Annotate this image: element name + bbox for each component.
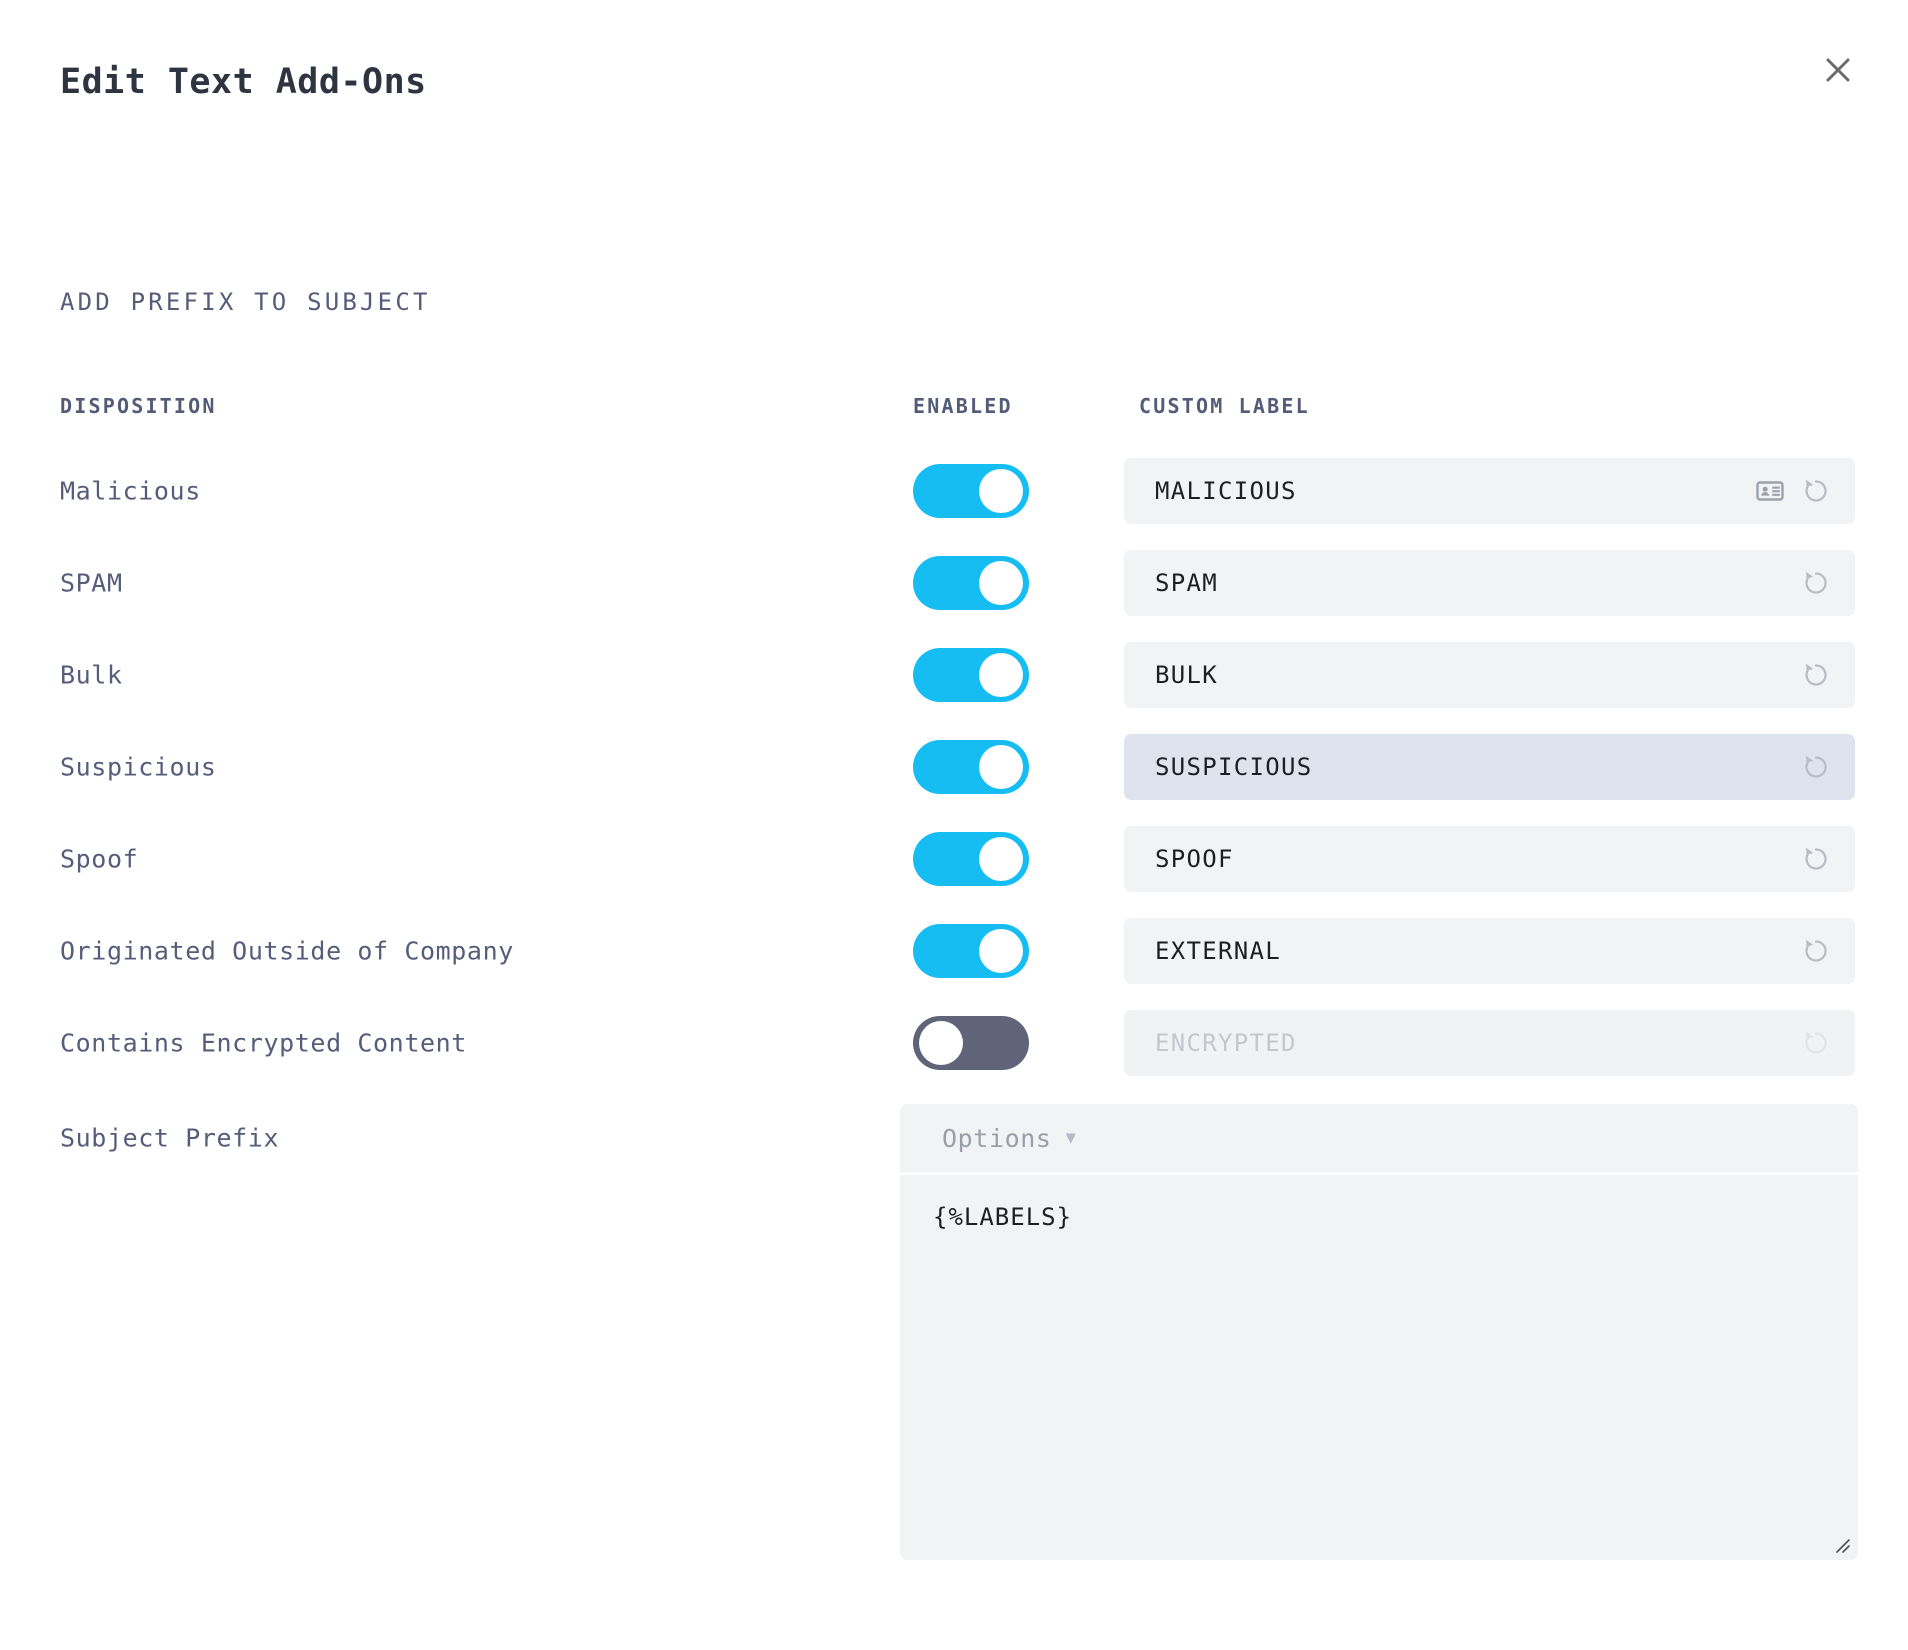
row-label-disposition: Suspicious bbox=[60, 753, 217, 782]
reset-icon[interactable] bbox=[1799, 566, 1833, 600]
reset-icon[interactable] bbox=[1799, 750, 1833, 784]
reset-icon[interactable] bbox=[1799, 934, 1833, 968]
custom-label-input: ENCRYPTED bbox=[1124, 1010, 1855, 1076]
row-label-subject-prefix: Subject Prefix bbox=[60, 1124, 279, 1153]
custom-label-value: SUSPICIOUS bbox=[1155, 753, 1313, 781]
contact-card-icon[interactable] bbox=[1755, 476, 1785, 506]
enabled-toggle[interactable] bbox=[913, 924, 1029, 978]
row-label-disposition: Malicious bbox=[60, 477, 201, 506]
row-label-disposition: Contains Encrypted Content bbox=[60, 1029, 467, 1058]
custom-label-input[interactable]: SPAM bbox=[1124, 550, 1855, 616]
custom-label-input[interactable]: SUSPICIOUS bbox=[1124, 734, 1855, 800]
custom-label-value: BULK bbox=[1155, 661, 1218, 689]
custom-label-value: MALICIOUS bbox=[1155, 477, 1297, 505]
toggle-knob bbox=[979, 745, 1023, 789]
field-icon-group bbox=[1799, 658, 1833, 692]
toggle-knob bbox=[979, 837, 1023, 881]
enabled-toggle[interactable] bbox=[913, 832, 1029, 886]
reset-icon[interactable] bbox=[1799, 842, 1833, 876]
field-icon-group bbox=[1755, 474, 1833, 508]
table-row: BulkBULK bbox=[0, 642, 1908, 708]
custom-label-value: SPAM bbox=[1155, 569, 1218, 597]
reset-icon[interactable] bbox=[1799, 658, 1833, 692]
table-row: Contains Encrypted ContentENCRYPTED bbox=[0, 1010, 1908, 1076]
reset-icon bbox=[1799, 1026, 1833, 1060]
enabled-toggle[interactable] bbox=[913, 1016, 1029, 1070]
field-icon-group bbox=[1799, 934, 1833, 968]
table-row: SPAMSPAM bbox=[0, 550, 1908, 616]
field-icon-group bbox=[1799, 1026, 1833, 1060]
field-icon-group bbox=[1799, 566, 1833, 600]
custom-label-value: EXTERNAL bbox=[1155, 937, 1281, 965]
custom-label-value: ENCRYPTED bbox=[1155, 1029, 1297, 1057]
options-dropdown[interactable]: Options ▼ bbox=[900, 1104, 1858, 1172]
enabled-toggle[interactable] bbox=[913, 648, 1029, 702]
toggle-knob bbox=[919, 1021, 963, 1065]
enabled-toggle[interactable] bbox=[913, 464, 1029, 518]
row-label-disposition: SPAM bbox=[60, 569, 123, 598]
custom-label-input[interactable]: SPOOF bbox=[1124, 826, 1855, 892]
table-row: Originated Outside of CompanyEXTERNAL bbox=[0, 918, 1908, 984]
field-icon-group bbox=[1799, 750, 1833, 784]
subject-prefix-textarea[interactable]: {%LABELS} bbox=[900, 1175, 1858, 1560]
resize-grip-icon[interactable] bbox=[1831, 1534, 1851, 1554]
toggle-knob bbox=[979, 469, 1023, 513]
table-row: SuspiciousSUSPICIOUS bbox=[0, 734, 1908, 800]
edit-text-add-ons-dialog: Edit Text Add-Ons ADD PREFIX TO SUBJECT … bbox=[0, 0, 1908, 1650]
options-dropdown-label: Options bbox=[942, 1124, 1052, 1153]
toggle-knob bbox=[979, 929, 1023, 973]
table-row: SpoofSPOOF bbox=[0, 826, 1908, 892]
enabled-toggle[interactable] bbox=[913, 740, 1029, 794]
table-row: MaliciousMALICIOUS bbox=[0, 458, 1908, 524]
row-label-disposition: Originated Outside of Company bbox=[60, 937, 514, 966]
row-label-disposition: Spoof bbox=[60, 845, 138, 874]
custom-label-input[interactable]: MALICIOUS bbox=[1124, 458, 1855, 524]
toggle-knob bbox=[979, 653, 1023, 697]
toggle-knob bbox=[979, 561, 1023, 605]
chevron-down-icon: ▼ bbox=[1066, 1130, 1076, 1147]
subject-prefix-value: {%LABELS} bbox=[933, 1203, 1072, 1231]
field-icon-group bbox=[1799, 842, 1833, 876]
custom-label-value: SPOOF bbox=[1155, 845, 1234, 873]
custom-label-input[interactable]: EXTERNAL bbox=[1124, 918, 1855, 984]
reset-icon[interactable] bbox=[1799, 474, 1833, 508]
enabled-toggle[interactable] bbox=[913, 556, 1029, 610]
row-label-disposition: Bulk bbox=[60, 661, 123, 690]
custom-label-input[interactable]: BULK bbox=[1124, 642, 1855, 708]
